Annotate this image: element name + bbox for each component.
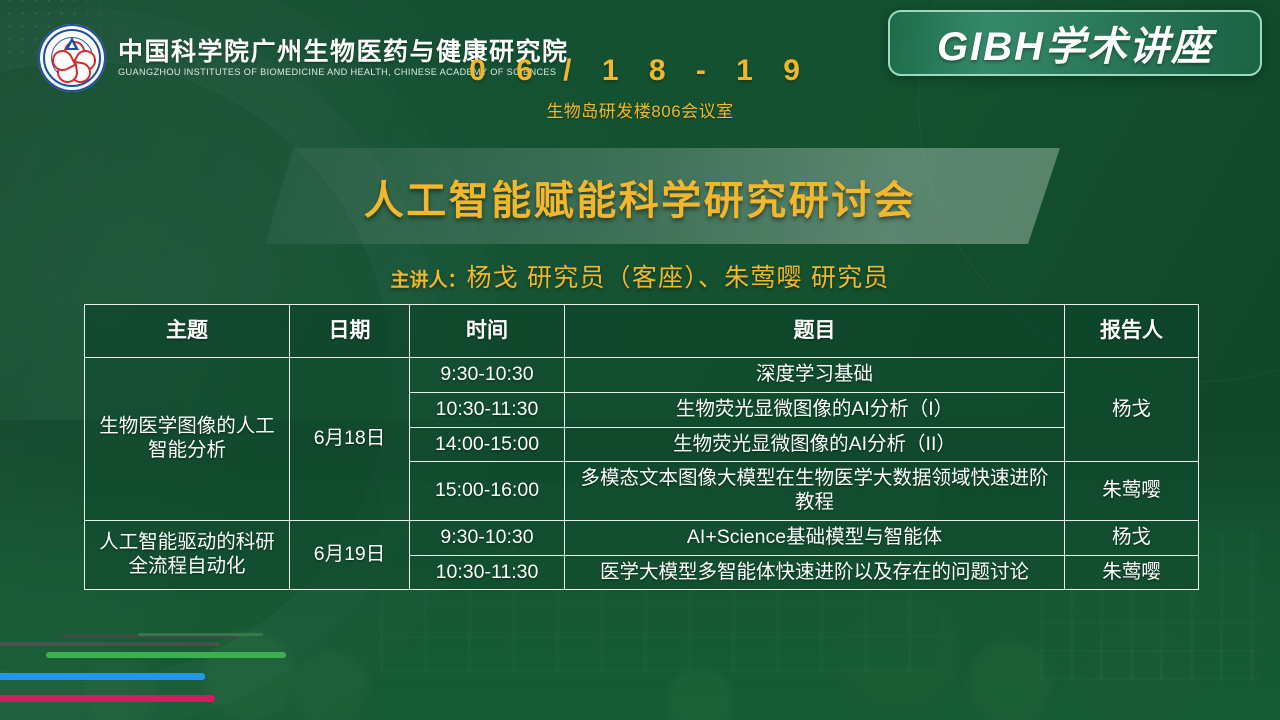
cell-speaker: 杨戈 xyxy=(1065,520,1199,555)
cell-time: 10:30-11:30 xyxy=(410,392,565,427)
deco-line-pink xyxy=(0,695,215,702)
table-row: 人工智能驱动的科研全流程自动化 6月19日 9:30-10:30 AI+Scie… xyxy=(85,520,1199,555)
event-date: 0 6 / 1 8 - 1 9 xyxy=(0,54,1280,88)
col-header-speaker: 报告人 xyxy=(1065,305,1199,358)
deco-line-3 xyxy=(138,633,263,636)
cell-topic: 生物荧光显微图像的AI分析（II） xyxy=(565,427,1065,462)
cell-time: 15:00-16:00 xyxy=(410,462,565,521)
deco-line-1 xyxy=(0,642,220,646)
schedule-table: 主题 日期 时间 题目 报告人 生物医学图像的人工智能分析 6月18日 9:30… xyxy=(84,304,1199,590)
speakers-line: 主讲人：杨戈 研究员（客座）、朱莺嘤 研究员 xyxy=(0,258,1280,294)
cell-topic: 生物荧光显微图像的AI分析（I） xyxy=(565,392,1065,427)
deco-line-green xyxy=(46,652,286,658)
speakers-names: 杨戈 研究员（客座）、朱莺嘤 研究员 xyxy=(467,264,890,292)
cell-time: 14:00-15:00 xyxy=(410,427,565,462)
cell-speaker: 杨戈 xyxy=(1065,358,1199,462)
cell-date: 6月18日 xyxy=(290,358,410,521)
cell-time: 9:30-10:30 xyxy=(410,520,565,555)
col-header-date: 日期 xyxy=(290,305,410,358)
cell-theme: 生物医学图像的人工智能分析 xyxy=(85,358,290,521)
cell-topic: 深度学习基础 xyxy=(565,358,1065,393)
cell-time: 10:30-11:30 xyxy=(410,555,565,590)
cell-topic: AI+Science基础模型与智能体 xyxy=(565,520,1065,555)
schedule-table-wrap: 主题 日期 时间 题目 报告人 生物医学图像的人工智能分析 6月18日 9:30… xyxy=(84,304,1198,590)
speakers-label: 主讲人： xyxy=(390,270,466,291)
decorative-lines xyxy=(0,620,620,712)
date-venue-block: 0 6 / 1 8 - 1 9 生物岛研发楼806会议室 xyxy=(0,54,1280,122)
cell-speaker: 朱莺嘤 xyxy=(1065,462,1199,521)
page-title: 人工智能赋能科学研究研讨会 xyxy=(0,168,1280,226)
table-row: 生物医学图像的人工智能分析 6月18日 9:30-10:30 深度学习基础 杨戈 xyxy=(85,358,1199,393)
event-venue: 生物岛研发楼806会议室 xyxy=(0,97,1280,122)
deco-line-blue xyxy=(0,673,205,680)
col-header-theme: 主题 xyxy=(85,305,290,358)
col-header-time: 时间 xyxy=(410,305,565,358)
cell-speaker: 朱莺嘤 xyxy=(1065,555,1199,590)
cell-time: 9:30-10:30 xyxy=(410,358,565,393)
cell-theme: 人工智能驱动的科研全流程自动化 xyxy=(85,520,290,590)
seminar-poster: 中国科学院广州生物医药与健康研究院 GUANGZHOU INSTITUTES O… xyxy=(0,0,1280,720)
cell-date: 6月19日 xyxy=(290,520,410,590)
table-header-row: 主题 日期 时间 题目 报告人 xyxy=(85,305,1199,358)
cell-topic: 多模态文本图像大模型在生物医学大数据领域快速进阶教程 xyxy=(565,462,1065,521)
cell-topic: 医学大模型多智能体快速进阶以及存在的问题讨论 xyxy=(565,555,1065,590)
logo-triangle-inner xyxy=(69,42,75,48)
col-header-topic: 题目 xyxy=(565,305,1065,358)
